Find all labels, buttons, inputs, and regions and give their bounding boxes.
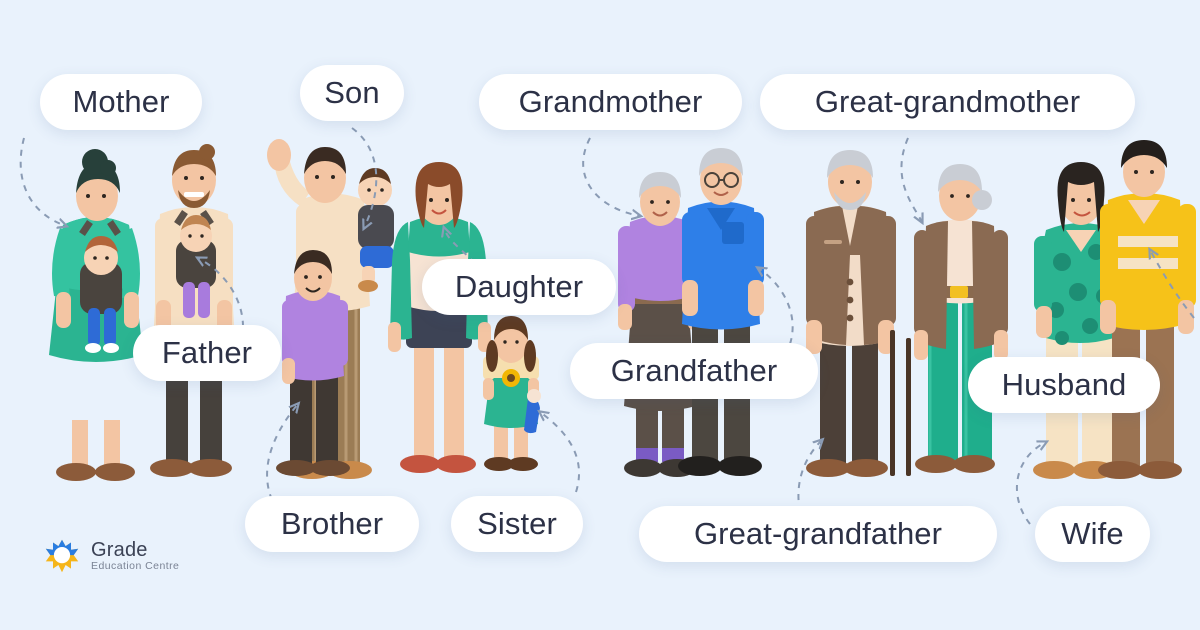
- connector-grandfather: [758, 268, 793, 344]
- label-pill-sister[interactable]: Sister: [451, 496, 583, 552]
- label-pill-great-grandfather[interactable]: Great-grandfather: [639, 506, 997, 562]
- connector-son: [352, 128, 376, 228]
- label-pill-father[interactable]: Father: [133, 325, 281, 381]
- connector-husband: [1150, 250, 1194, 318]
- logo-name: Grade: [91, 539, 179, 561]
- label-pill-grandfather[interactable]: Grandfather: [570, 343, 818, 399]
- label-pill-great-grandmother[interactable]: Great-grandmother: [760, 74, 1135, 130]
- label-pill-wife[interactable]: Wife: [1035, 506, 1150, 562]
- infographic-canvas: .sk{fill:#F3C5A3}.sk2{fill:#EFB894}.sk3{…: [0, 0, 1200, 630]
- label-pill-grandmother[interactable]: Grandmother: [479, 74, 742, 130]
- connector-grandmother: [583, 138, 640, 216]
- connector-brother: [267, 404, 298, 500]
- brand-logo[interactable]: Grade Education Centre: [44, 538, 179, 574]
- connector-wife: [1017, 442, 1046, 524]
- label-pill-daughter[interactable]: Daughter: [422, 259, 616, 315]
- sunburst-icon: [44, 538, 80, 574]
- connector-great-grandfather: [798, 440, 822, 512]
- connector-great-grandmother: [901, 138, 922, 222]
- connector-sister: [540, 412, 579, 492]
- logo-tagline: Education Centre: [91, 561, 179, 573]
- label-pill-husband[interactable]: Husband: [968, 357, 1160, 413]
- label-pill-son[interactable]: Son: [300, 65, 404, 121]
- label-pill-mother[interactable]: Mother: [40, 74, 202, 130]
- connector-mother: [21, 138, 66, 226]
- label-pill-brother[interactable]: Brother: [245, 496, 419, 552]
